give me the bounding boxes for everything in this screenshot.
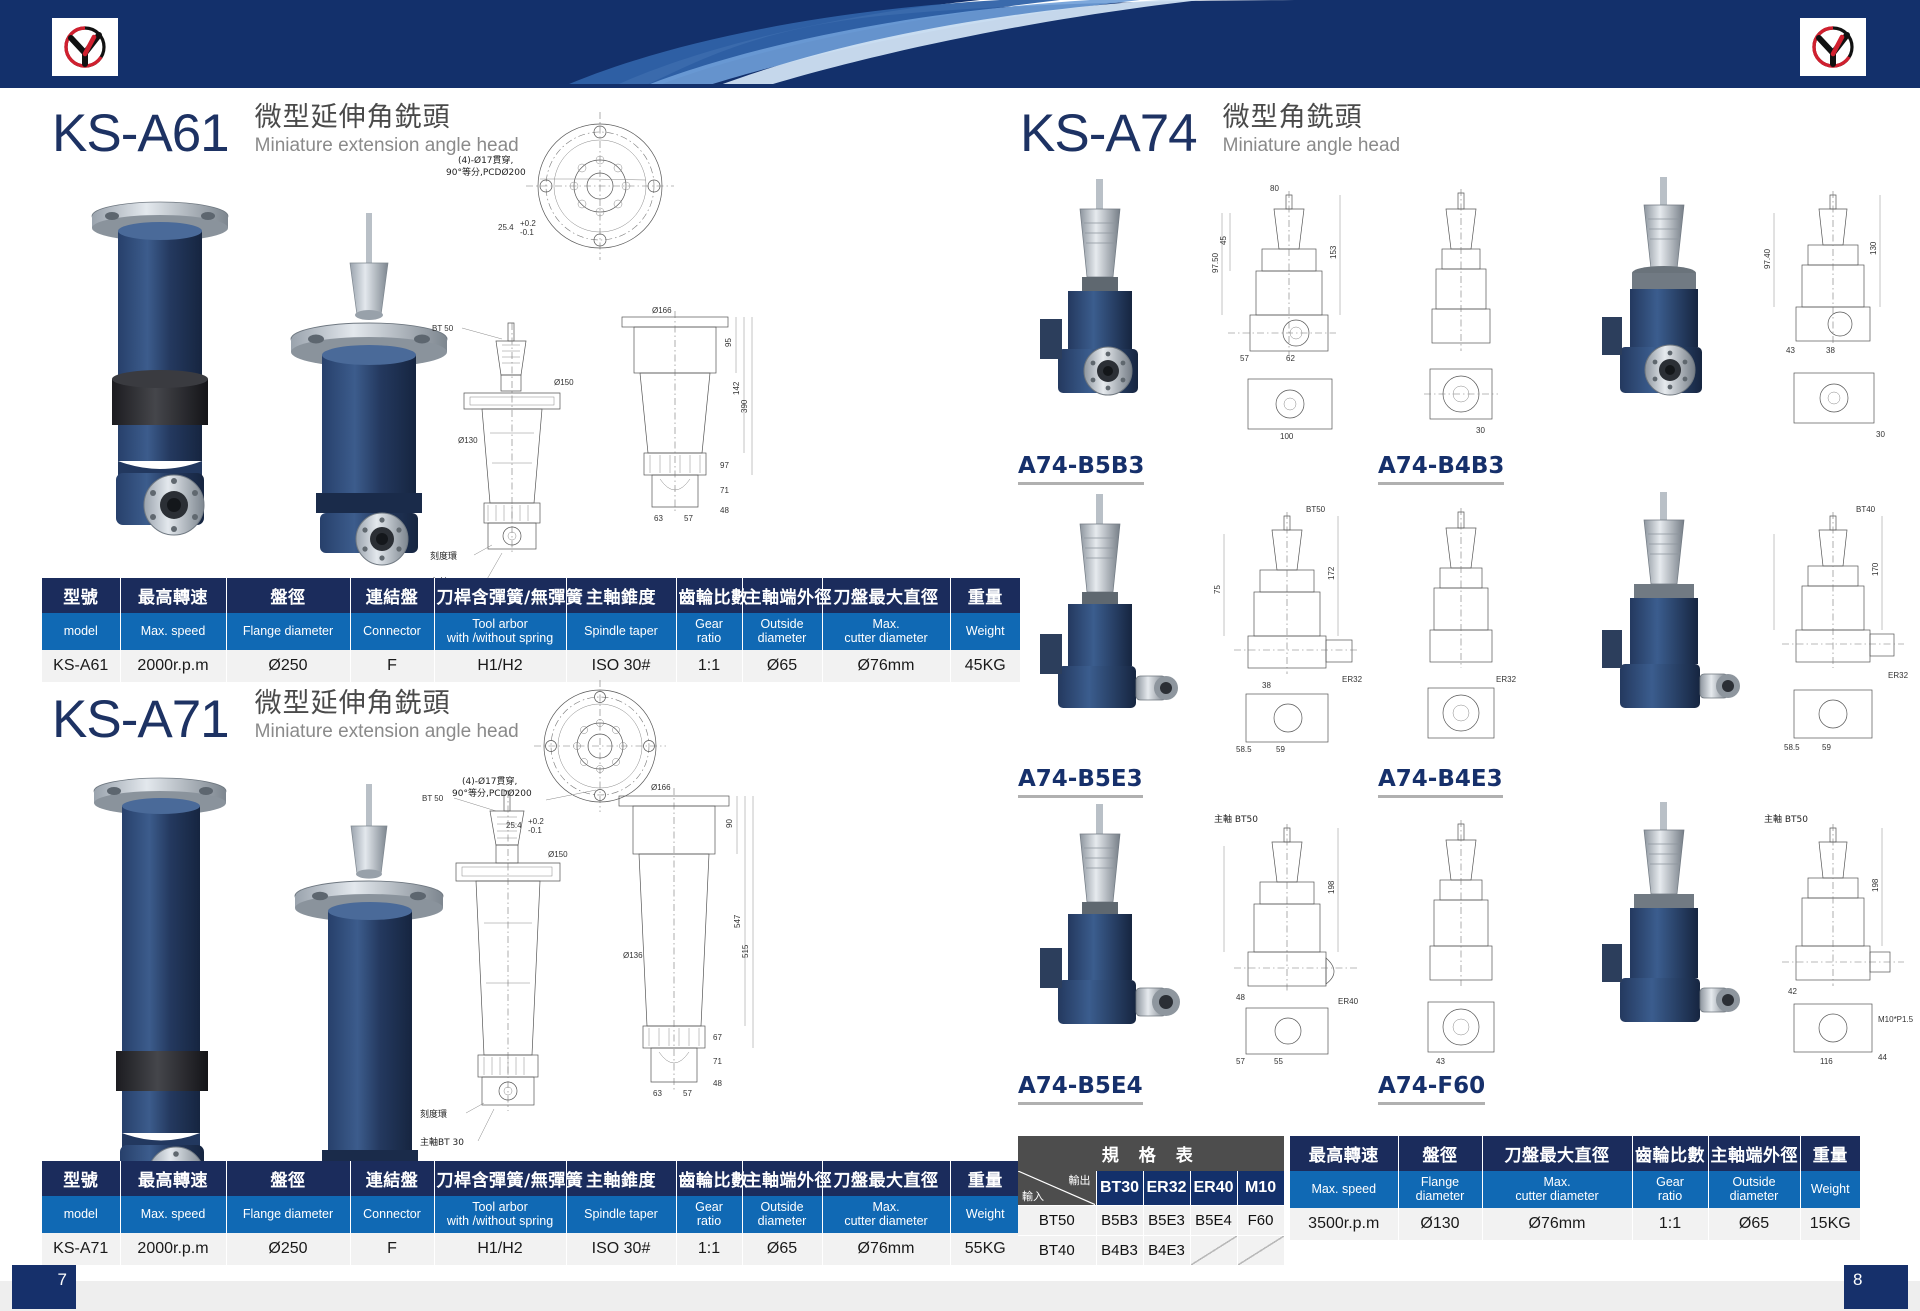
dim-taper: BT40: [1856, 505, 1876, 514]
th-cn-model: 型號: [42, 578, 120, 613]
th-cn-outside-diameter: 主軸端外徑: [1708, 1136, 1800, 1171]
cell-spindle-taper: ISO 30#: [566, 650, 676, 682]
dim-d1: 97.40: [1763, 248, 1772, 269]
dim-170: 170: [1871, 562, 1880, 576]
page-footer: 7 8: [0, 1265, 1920, 1311]
cell-max-speed: 2000r.p.m: [120, 1233, 226, 1265]
drawing-dim-63: 63: [653, 1089, 662, 1098]
th-cn-max-cutter-diameter: 刀盤最大直徑: [822, 1161, 950, 1196]
cell-weight: 15KG: [1800, 1208, 1860, 1240]
svg-text:+0.2: +0.2: [520, 219, 536, 228]
th-cn-gear-ratio: 齒輪比數: [676, 1161, 742, 1196]
th-en-tool-arbor: Tool arbor with /without spring: [434, 613, 566, 650]
technical-drawing-a74-b5e3: BT50 172 75 ER32 58.5 59 38: [1210, 498, 1400, 758]
technical-drawing-a74-f60: 主軸 BT50 198 42 116 M10*P1.5 44: [1760, 808, 1920, 1068]
cell-tool-arbor: H1/H2: [434, 650, 566, 682]
drawing-dim-63: 63: [654, 514, 663, 523]
th-cn-connector: 連結盤: [350, 578, 434, 613]
technical-drawing-a74-b5b3-side: 30: [1400, 183, 1530, 443]
diagonal-slash-icon: [1018, 1171, 1095, 1205]
model-label: A74-B4E3: [1378, 766, 1503, 792]
left-page: KS-A61 微型延伸角銑頭 Miniature extension angle…: [0, 88, 960, 1311]
cell-flange-diameter: Ø250: [226, 1233, 350, 1265]
dim-collet: ER32: [1888, 671, 1909, 680]
cell-connector: F: [350, 1233, 434, 1265]
dim-130: 130: [1869, 241, 1878, 255]
dim-42: 42: [1788, 987, 1797, 996]
table-header-row-cn: 最高轉速 盤徑 刀盤最大直徑 齒輪比數 主軸端外徑 重量: [1290, 1136, 1860, 1171]
dim-collet: ER32: [1342, 675, 1363, 684]
drawing-dim-71: 71: [720, 486, 729, 495]
matrix-cell: B5E4: [1190, 1205, 1237, 1235]
cell-spindle-taper: ISO 30#: [566, 1233, 676, 1265]
th-cn-flange-diameter: 盤徑: [226, 1161, 350, 1196]
matrix-row-header: BT40: [1018, 1235, 1096, 1265]
model-label: A74-B4B3: [1378, 453, 1504, 479]
cell-max-cutter-diameter: Ø76mm: [822, 650, 950, 682]
dim-59: 59: [1276, 745, 1285, 754]
spec-table-ks-a74: 最高轉速 盤徑 刀盤最大直徑 齒輪比數 主軸端外徑 重量 Max. speed …: [1290, 1136, 1860, 1240]
drawing-dim-d130: Ø130: [458, 436, 478, 445]
th-cn-max-cutter-diameter: 刀盤最大直徑: [1482, 1136, 1632, 1171]
th-cn-max-speed: 最高轉速: [120, 1161, 226, 1196]
underline-rule: [1378, 482, 1504, 485]
cell-outside-diameter: Ø65: [1708, 1208, 1800, 1240]
product-name-cn: 微型角銑頭: [1223, 102, 1400, 133]
table-header-row-en: model Max. speed Flange diameter Connect…: [42, 613, 1020, 650]
spec-table-ks-a71-wrap: 型號 最高轉速 盤徑 連結盤 刀桿含彈簧/無彈簧 主軸錐度 齒輪比數 主軸端外徑…: [42, 1161, 1020, 1265]
drawing-dim-71: 71: [713, 1057, 722, 1066]
matrix-cell-empty: [1237, 1235, 1284, 1265]
th-en-outside-diameter: Outside diameter: [742, 1196, 822, 1233]
drawing-dim-142: 142: [732, 381, 741, 395]
cell-outside-diameter: Ø65: [742, 650, 822, 682]
dim-57: 57: [1236, 1057, 1245, 1066]
drawing-label-scale-ring: 刻度環: [430, 550, 457, 562]
underline-rule: [1378, 795, 1503, 798]
drawing-dim-d136: Ø136: [623, 951, 643, 960]
dim-153: 153: [1329, 245, 1338, 259]
model-label: A74-B5E4: [1018, 1073, 1143, 1099]
drawing-label-bt50: BT 50: [432, 324, 454, 333]
cell-gear-ratio: 1:1: [1632, 1208, 1708, 1240]
th-cn-gear-ratio: 齒輪比數: [676, 578, 742, 613]
th-en-max-speed: Max. speed: [120, 1196, 226, 1233]
matrix-table-spec: 規 格 表 輸出 輸入 BT30 ER32 ER40 M10: [1018, 1136, 1285, 1265]
matrix-cell: B4E3: [1143, 1235, 1190, 1265]
th-en-flange-diameter: Flange diameter: [1398, 1171, 1482, 1208]
th-en-connector: Connector: [350, 1196, 434, 1233]
cell-max-speed: 3500r.p.m: [1290, 1208, 1398, 1240]
drawing-dim-48: 48: [720, 506, 729, 515]
model-label: A74-B5E3: [1018, 766, 1143, 792]
company-logo-right: [1800, 18, 1866, 76]
th-cn-model: 型號: [42, 1161, 120, 1196]
th-cn-tool-arbor: 刀桿含彈簧/無彈簧: [434, 1161, 566, 1196]
technical-drawing-a74-b4b3: 130 97.40 43 38 30: [1760, 183, 1920, 443]
th-en-outside-diameter: Outside diameter: [742, 613, 822, 650]
matrix-title-row: 規 格 表: [1018, 1136, 1284, 1171]
cell-gear-ratio: 1:1: [676, 1233, 742, 1265]
matrix-col-er32: ER32: [1143, 1171, 1190, 1205]
th-cn-outside-diameter: 主軸端外徑: [742, 578, 822, 613]
drawing-label-bt50: BT 50: [422, 794, 444, 803]
th-en-gear-ratio: Gear ratio: [676, 613, 742, 650]
dim-44: 44: [1878, 1053, 1887, 1062]
th-cn-flange-diameter: 盤徑: [1398, 1136, 1482, 1171]
dim-38: 38: [1262, 681, 1271, 690]
technical-drawing-ks-a71-plan: Ø166 Ø136 90 547 515 67 71 48 63 57: [595, 778, 765, 1178]
drawing-dim-515: 515: [741, 944, 750, 958]
drawing-note-line1: (4)-Ø17貫穿,: [458, 154, 513, 166]
cell-gear-ratio: 1:1: [676, 650, 742, 682]
model-caption-a74-f60: A74-F60: [1378, 1073, 1485, 1109]
dim-collet: ER40: [1338, 997, 1359, 1006]
drawing-dim-d150: Ø150: [554, 378, 574, 387]
dim-38: 38: [1826, 346, 1835, 355]
th-en-gear-ratio: Gear ratio: [676, 1196, 742, 1233]
footer-bar: [0, 1281, 1920, 1311]
technical-drawing-a74-b4e3: BT40 170 ER32 58.5 59: [1760, 498, 1920, 758]
matrix-header-row: 輸出 輸入 BT30 ER32 ER40 M10: [1018, 1171, 1284, 1205]
catalog-page-spread: KS-A61 微型延伸角銑頭 Miniature extension angle…: [0, 0, 1920, 1311]
cell-tool-arbor: H1/H2: [434, 1233, 566, 1265]
cell-flange-diameter: Ø250: [226, 650, 350, 682]
drawing-dim-97: 97: [720, 461, 729, 470]
company-logo-icon: [1809, 23, 1857, 71]
model-label: A74-F60: [1378, 1073, 1485, 1099]
th-cn-flange-diameter: 盤徑: [226, 578, 350, 613]
drawing-dim-90: 90: [725, 819, 734, 828]
drawing-label-scale-ring: 刻度環: [420, 1108, 447, 1120]
model-caption-a74-b5e3: A74-B5E3: [1018, 766, 1143, 802]
th-cn-gear-ratio: 齒輪比數: [1632, 1136, 1708, 1171]
th-cn-max-speed: 最高轉速: [120, 578, 226, 613]
drawing-dim-254: 25.4: [498, 223, 514, 232]
th-en-max-speed: Max. speed: [120, 613, 226, 650]
matrix-row-header: BT50: [1018, 1205, 1096, 1235]
model-caption-a74-b5b3: A74-B5B3: [1018, 453, 1144, 489]
th-en-max-cutter-diameter: Max. cutter diameter: [822, 1196, 950, 1233]
matrix-cell: B5E3: [1143, 1205, 1190, 1235]
underline-rule: [1018, 1102, 1143, 1105]
cell-max-speed: 2000r.p.m: [120, 650, 226, 682]
technical-drawing-ks-a61-section: BT 50: [430, 313, 620, 593]
th-cn-connector: 連結盤: [350, 1161, 434, 1196]
drawing-dim-d166: Ø166: [651, 783, 671, 792]
product-photo-a74-b5e3: [1012, 488, 1202, 758]
company-logo-left: [52, 18, 118, 76]
dim-116: 116: [1820, 1057, 1833, 1066]
th-en-flange-diameter: Flange diameter: [226, 1196, 350, 1233]
right-page: KS-A74 微型角銑頭 Miniature angle head: [960, 88, 1920, 1311]
drawing-dim-95: 95: [724, 338, 733, 347]
cell-max-cutter-diameter: Ø76mm: [822, 1233, 950, 1265]
dim-taper: BT50: [1306, 505, 1326, 514]
dim-48: 48: [1236, 993, 1245, 1002]
cell-connector: F: [350, 650, 434, 682]
product-photo-a74-f60: [1572, 798, 1762, 1068]
matrix-cell-empty: [1190, 1235, 1237, 1265]
table-header-row-en: model Max. speed Flange diameter Connect…: [42, 1196, 1020, 1233]
page-number-left: 7: [12, 1265, 76, 1309]
th-en-gear-ratio: Gear ratio: [1632, 1171, 1708, 1208]
cell-max-cutter-diameter: Ø76mm: [1482, 1208, 1632, 1240]
matrix-cell: B4B3: [1096, 1235, 1143, 1265]
matrix-col-m10: M10: [1237, 1171, 1284, 1205]
cell-model: KS-A71: [42, 1233, 120, 1265]
table-header-row-en: Max. speed Flange diameter Max. cutter d…: [1290, 1171, 1860, 1208]
dim-198: 198: [1327, 880, 1336, 894]
drawing-dim-67: 67: [713, 1033, 722, 1042]
dim-d2: 80: [1270, 184, 1279, 193]
th-en-flange-diameter: Flange diameter: [226, 613, 350, 650]
th-cn-max-cutter-diameter: 刀盤最大直徑: [822, 578, 950, 613]
dim-59: 59: [1822, 743, 1831, 752]
matrix-cell: B5B3: [1096, 1205, 1143, 1235]
spec-table-a74-wrap: 最高轉速 盤徑 刀盤最大直徑 齒輪比數 主軸端外徑 重量 Max. speed …: [1290, 1136, 1860, 1240]
dim-100: 100: [1280, 432, 1294, 441]
drawing-dim-57: 57: [683, 1089, 692, 1098]
spec-table-ks-a61-wrap: 型號 最高轉速 盤徑 連結盤 刀桿含彈簧/無彈簧 主軸錐度 齒輪比數 主軸端外徑…: [42, 578, 1020, 682]
dim-585: 58.5: [1784, 743, 1800, 752]
product-photo-a74-b4e3: [1572, 488, 1762, 758]
matrix-table-wrap: 規 格 表 輸出 輸入 BT30 ER32 ER40 M10: [1018, 1136, 1285, 1265]
th-en-tool-arbor: Tool arbor with /without spring: [434, 1196, 566, 1233]
product-photo-a74-b5b3: [1012, 173, 1202, 443]
technical-drawing-ks-a71-section: BT 50: [420, 783, 620, 1173]
product-name-en: Miniature angle head: [1223, 135, 1400, 158]
product-code: KS-A74: [1020, 107, 1197, 160]
drawing-dim-d166: Ø166: [652, 306, 672, 315]
technical-drawing-a74-b5e3-side: ER32: [1400, 498, 1530, 758]
model-label: A74-B5B3: [1018, 453, 1144, 479]
drawing-note-line2: 90°等分,PCDØ200: [446, 166, 526, 178]
th-cn-weight: 重量: [1800, 1136, 1860, 1171]
th-cn-max-speed: 最高轉速: [1290, 1136, 1398, 1171]
model-caption-a74-b5e4: A74-B5E4: [1018, 1073, 1143, 1109]
product-code: KS-A61: [52, 107, 229, 160]
dim-spindle-label: 主軸 BT50: [1214, 813, 1258, 825]
dim-198: 198: [1871, 878, 1880, 892]
dim-spindle-label: 主軸 BT50: [1764, 813, 1808, 825]
svg-text:-0.1: -0.1: [520, 228, 534, 237]
th-cn-outside-diameter: 主軸端外徑: [742, 1161, 822, 1196]
spec-table-ks-a61: 型號 最高轉速 盤徑 連結盤 刀桿含彈簧/無彈簧 主軸錐度 齒輪比數 主軸端外徑…: [42, 578, 1020, 682]
dim-57: 57: [1240, 354, 1249, 363]
cell-flange-diameter: Ø130: [1398, 1208, 1482, 1240]
dim-d1: 97.50: [1211, 252, 1220, 273]
dim-collet: ER32: [1496, 675, 1517, 684]
matrix-row-bt40: BT40 B4B3 B4E3: [1018, 1235, 1284, 1265]
matrix-row-bt50: BT50 B5B3 B5E3 B5E4 F60: [1018, 1205, 1284, 1235]
underline-rule: [1018, 482, 1144, 485]
top-decorative-band: [0, 0, 1920, 88]
th-en-max-cutter-diameter: Max. cutter diameter: [1482, 1171, 1632, 1208]
technical-drawing-ks-a61-plan: Ø166 95 142 390 97 71 48 63 57: [600, 303, 760, 593]
page-number-right: 8: [1844, 1265, 1908, 1309]
th-en-spindle-taper: Spindle taper: [566, 613, 676, 650]
product-photo-a74-b4b3: [1572, 173, 1762, 443]
model-caption-a74-b4b3: A74-B4B3: [1378, 453, 1504, 489]
technical-drawing-a74-b5e4: 主軸 BT50 198 48 57 55 ER40: [1210, 808, 1400, 1068]
product-photo-a74-b5e4: [1012, 798, 1202, 1068]
drawing-dim-390: 390: [740, 399, 749, 413]
dim-585: 58.5: [1236, 745, 1252, 754]
dim-62: 62: [1286, 354, 1295, 363]
drawing-dim-48: 48: [713, 1079, 722, 1088]
dim-thread: M10*P1.5: [1878, 1015, 1914, 1024]
th-en-max-speed: Max. speed: [1290, 1171, 1398, 1208]
spec-table-ks-a71: 型號 最高轉速 盤徑 連結盤 刀桿含彈簧/無彈簧 主軸錐度 齒輪比數 主軸端外徑…: [42, 1161, 1020, 1265]
drawing-label-spindle: 主軸BT 30: [420, 1136, 464, 1148]
th-en-max-cutter-diameter: Max. cutter diameter: [822, 613, 950, 650]
product-code: KS-A71: [52, 693, 229, 746]
cell-outside-diameter: Ø65: [742, 1233, 822, 1265]
dim-172: 172: [1327, 566, 1336, 580]
table-row: KS-A61 2000r.p.m Ø250 F H1/H2 ISO 30# 1:…: [42, 650, 1020, 682]
drawing-dim-d150: Ø150: [548, 850, 568, 859]
company-logo-icon: [61, 23, 109, 71]
product-heading-ks-a74: KS-A74 微型角銑頭 Miniature angle head: [1020, 102, 1400, 160]
dim-55: 55: [1274, 1057, 1283, 1066]
matrix-col-er40: ER40: [1190, 1171, 1237, 1205]
th-en-connector: Connector: [350, 613, 434, 650]
dim-43: 43: [1436, 1057, 1445, 1066]
product-photo-ks-a61-side: [48, 183, 278, 563]
table-row: 3500r.p.m Ø130 Ø76mm 1:1 Ø65 15KG: [1290, 1208, 1860, 1240]
th-en-weight: Weight: [1800, 1171, 1860, 1208]
dim-43: 43: [1786, 346, 1795, 355]
table-header-row-cn: 型號 最高轉速 盤徑 連結盤 刀桿含彈簧/無彈簧 主軸錐度 齒輪比數 主軸端外徑…: [42, 1161, 1020, 1196]
th-cn-tool-arbor: 刀桿含彈簧/無彈簧: [434, 578, 566, 613]
th-en-outside-diameter: Outside diameter: [1708, 1171, 1800, 1208]
table-header-row-cn: 型號 最高轉速 盤徑 連結盤 刀桿含彈簧/無彈簧 主軸錐度 齒輪比數 主軸端外徑…: [42, 578, 1020, 613]
matrix-col-bt30: BT30: [1096, 1171, 1143, 1205]
underline-rule: [1378, 1102, 1485, 1105]
matrix-title: 規 格 表: [1018, 1136, 1284, 1171]
th-en-spindle-taper: Spindle taper: [566, 1196, 676, 1233]
th-en-model: model: [42, 613, 120, 650]
model-caption-a74-b4e3: A74-B4E3: [1378, 766, 1503, 802]
technical-drawing-a74-b5e4-side: 43: [1400, 808, 1530, 1068]
matrix-cell: F60: [1237, 1205, 1284, 1235]
dim-bt30: 30: [1876, 430, 1885, 439]
drawing-dim-57: 57: [684, 514, 693, 523]
product-heading-ks-a71: KS-A71 微型延伸角銑頭 Miniature extension angle…: [52, 688, 519, 746]
technical-drawing-a74-b5b3: 153 45 97.50 80 57 62 100: [1210, 183, 1400, 443]
th-en-model: model: [42, 1196, 120, 1233]
dim-45: 45: [1219, 236, 1228, 245]
table-row: KS-A71 2000r.p.m Ø250 F H1/H2 ISO 30# 1:…: [42, 1233, 1020, 1265]
cell-model: KS-A61: [42, 650, 120, 682]
dim-d1: 75: [1213, 585, 1222, 594]
drawing-dim-547: 547: [733, 914, 742, 928]
matrix-corner-cell: 輸出 輸入: [1018, 1171, 1096, 1205]
dim-bt30: 30: [1476, 426, 1485, 435]
